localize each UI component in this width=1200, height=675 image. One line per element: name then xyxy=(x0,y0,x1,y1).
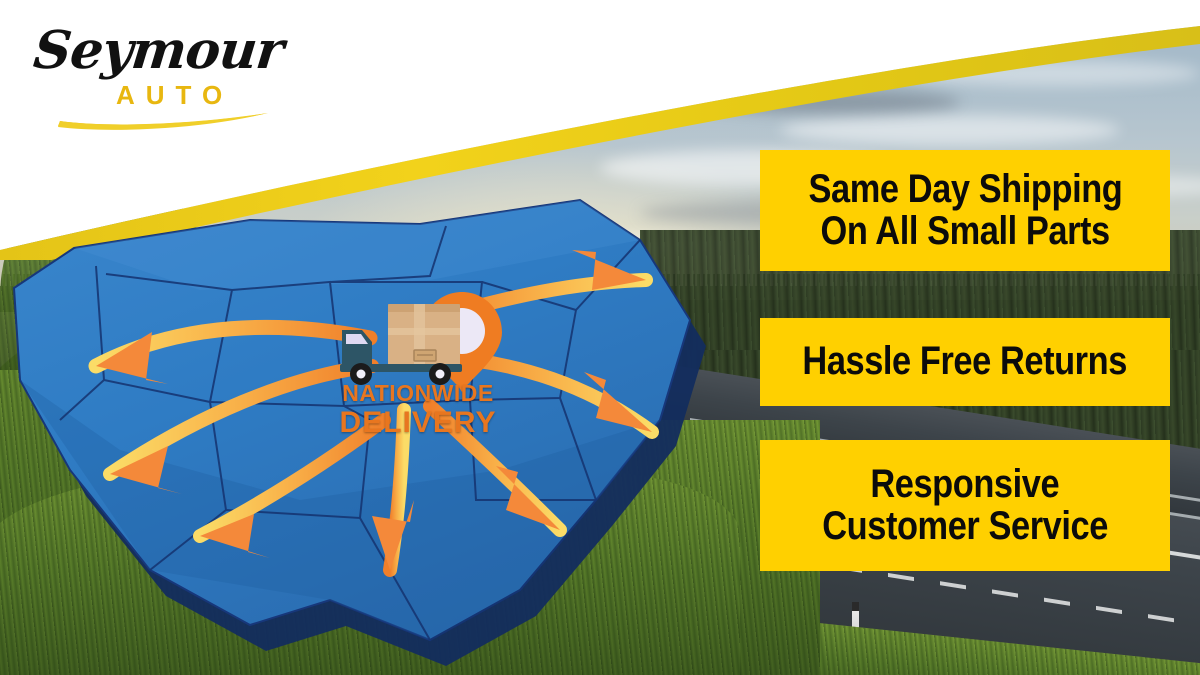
feature-panel-hassle-free-returns[interactable]: Hassle Free Returns xyxy=(760,318,1170,406)
badge-line-2: DELIVERY xyxy=(318,406,518,440)
logo-swoosh-icon xyxy=(28,102,278,136)
promotional-banner: Seymour AUTO xyxy=(0,0,1200,675)
delivery-truck-icon xyxy=(340,304,462,385)
feature-panel-line: Hassle Free Returns xyxy=(803,341,1128,383)
feature-panel-line: Same Day Shipping xyxy=(808,169,1122,211)
feature-panel-line: On All Small Parts xyxy=(820,211,1109,253)
feature-panel-line: Responsive xyxy=(871,464,1060,506)
badge-line-1: NATIONWIDE xyxy=(318,380,518,407)
nationwide-delivery-badge: NATIONWIDE DELIVERY xyxy=(318,276,518,446)
feature-panel-responsive-customer-service[interactable]: Responsive Customer Service xyxy=(760,440,1170,571)
brand-logo[interactable]: Seymour AUTO xyxy=(28,18,278,128)
feature-panel-same-day-shipping[interactable]: Same Day Shipping On All Small Parts xyxy=(760,150,1170,271)
brand-name: Seymour xyxy=(31,20,286,81)
feature-panel-line: Customer Service xyxy=(822,506,1108,548)
